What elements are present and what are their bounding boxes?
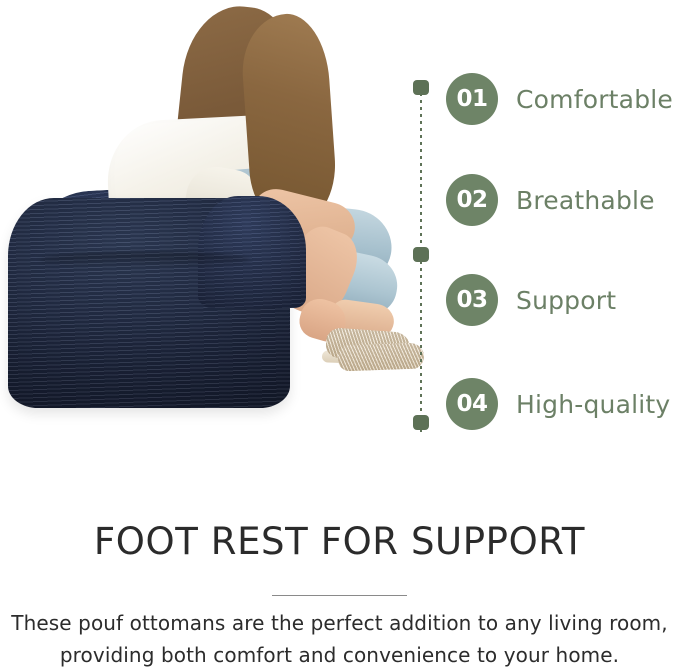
feature-item-1: 01 Comfortable [446, 71, 673, 127]
feature-item-4: 04 High-quality [446, 376, 670, 432]
timeline-marker-top [413, 80, 429, 95]
bottom-text-section: FOOT REST FOR SUPPORT These pouf ottoman… [0, 455, 679, 669]
feature-label: High-quality [516, 390, 670, 419]
pouf-seam [40, 252, 250, 268]
hero-section: 01 Comfortable 02 Breathable 03 Support … [0, 0, 679, 455]
page-title: FOOT REST FOR SUPPORT [0, 520, 679, 563]
description-text: These pouf ottomans are the perfect addi… [8, 607, 671, 671]
feature-label: Comfortable [516, 85, 673, 114]
feature-number-badge: 03 [446, 274, 498, 326]
feature-item-2: 02 Breathable [446, 172, 655, 228]
feature-label: Breathable [516, 186, 655, 215]
divider [272, 595, 407, 596]
timeline-marker-bottom [413, 415, 429, 430]
feature-list: 01 Comfortable 02 Breathable 03 Support … [400, 0, 679, 455]
feature-number-badge: 01 [446, 73, 498, 125]
feature-item-3: 03 Support [446, 272, 616, 328]
feature-number-badge: 02 [446, 174, 498, 226]
product-photo [0, 0, 400, 440]
timeline-marker-middle [413, 247, 429, 262]
feature-number-badge: 04 [446, 378, 498, 430]
feature-label: Support [516, 286, 616, 315]
pouf-side-panel [198, 196, 306, 308]
